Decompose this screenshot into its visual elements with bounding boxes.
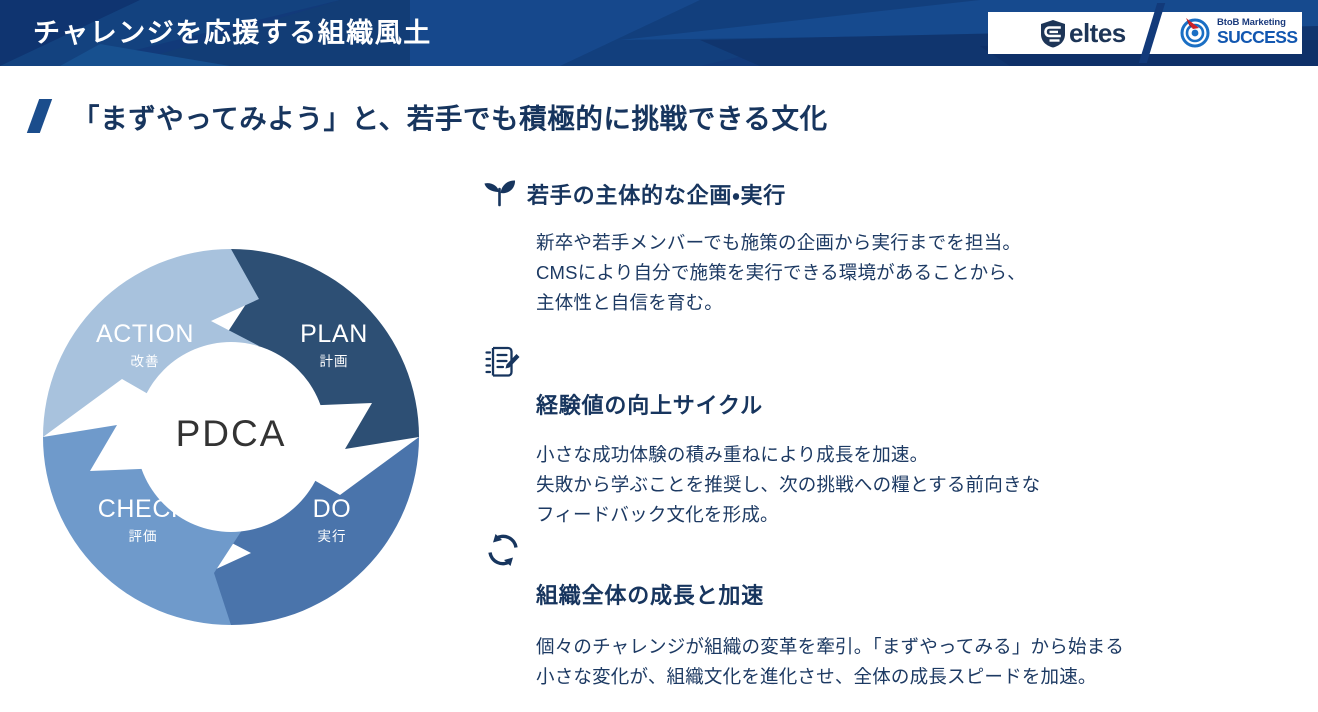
feature-block-3-title: 組織全体の成長と加速 <box>536 578 1124 610</box>
header-bar: チャレンジを応援する組織風土 eltes <box>0 0 1318 66</box>
slash-accent-icon <box>27 99 52 133</box>
notepad-pencil-icon <box>485 345 1040 384</box>
feature-block-1-title: 若手の主体的な企画・実行 <box>527 178 786 210</box>
feature-block-1-head: 若手の主体的な企画・実行 <box>483 178 1026 210</box>
feature-block-3: 組織全体の成長と加速 個々のチャレンジが組織の変革を牽引。「まずやってみる」から… <box>483 533 1124 692</box>
pdca-center-label: PDCA <box>40 413 422 455</box>
feature-block-1: 若手の主体的な企画・実行 新卒や若手メンバーでも施策の企画から実行までを担当。 … <box>483 178 1026 318</box>
pdca-diagram: PLAN 計画 DO 実行 CHECK 評価 ACTION 改善 PDCA <box>40 243 422 631</box>
feature-block-2-body: 小さな成功体験の積み重ねにより成長を加速。 失敗から学ぶことを推奨し、次の挑戦へ… <box>536 440 1040 530</box>
subtitle-text: 「まずやってみよう」と、若手でも積極的に挑戦できる文化 <box>72 96 828 136</box>
feature-block-2: 経験値の向上サイクル 小さな成功体験の積み重ねにより成長を加速。 失敗から学ぶこ… <box>483 345 1040 530</box>
shield-icon <box>1040 19 1066 48</box>
subtitle-row: 「まずやってみよう」と、若手でも積極的に挑戦できる文化 <box>33 96 828 136</box>
logo-plate: eltes BtoB Marketing SUCCESS <box>988 12 1302 54</box>
slide-root: チャレンジを応援する組織風土 eltes <box>0 0 1318 712</box>
refresh-cycle-icon <box>485 533 1124 572</box>
feature-block-2-title: 経験値の向上サイクル <box>536 388 1040 420</box>
success-logo-bottom: SUCCESS <box>1217 29 1297 47</box>
eltes-logo-text: eltes <box>1069 18 1126 49</box>
btob-marketing-success-logo: BtoB Marketing SUCCESS <box>1180 16 1297 48</box>
feature-block-1-body: 新卒や若手メンバーでも施策の企画から実行までを担当。 CMSにより自分で施策を実… <box>536 228 1026 318</box>
page-title: チャレンジを応援する組織風土 <box>33 0 432 66</box>
eltes-logo: eltes <box>1040 18 1126 49</box>
success-logo-text: BtoB Marketing SUCCESS <box>1217 18 1297 46</box>
feature-block-3-body: 個々のチャレンジが組織の変革を牽引。「まずやってみる」から始まる 小さな変化が、… <box>536 632 1124 692</box>
target-dartboard-icon <box>1180 16 1214 48</box>
sprout-icon <box>483 178 527 207</box>
